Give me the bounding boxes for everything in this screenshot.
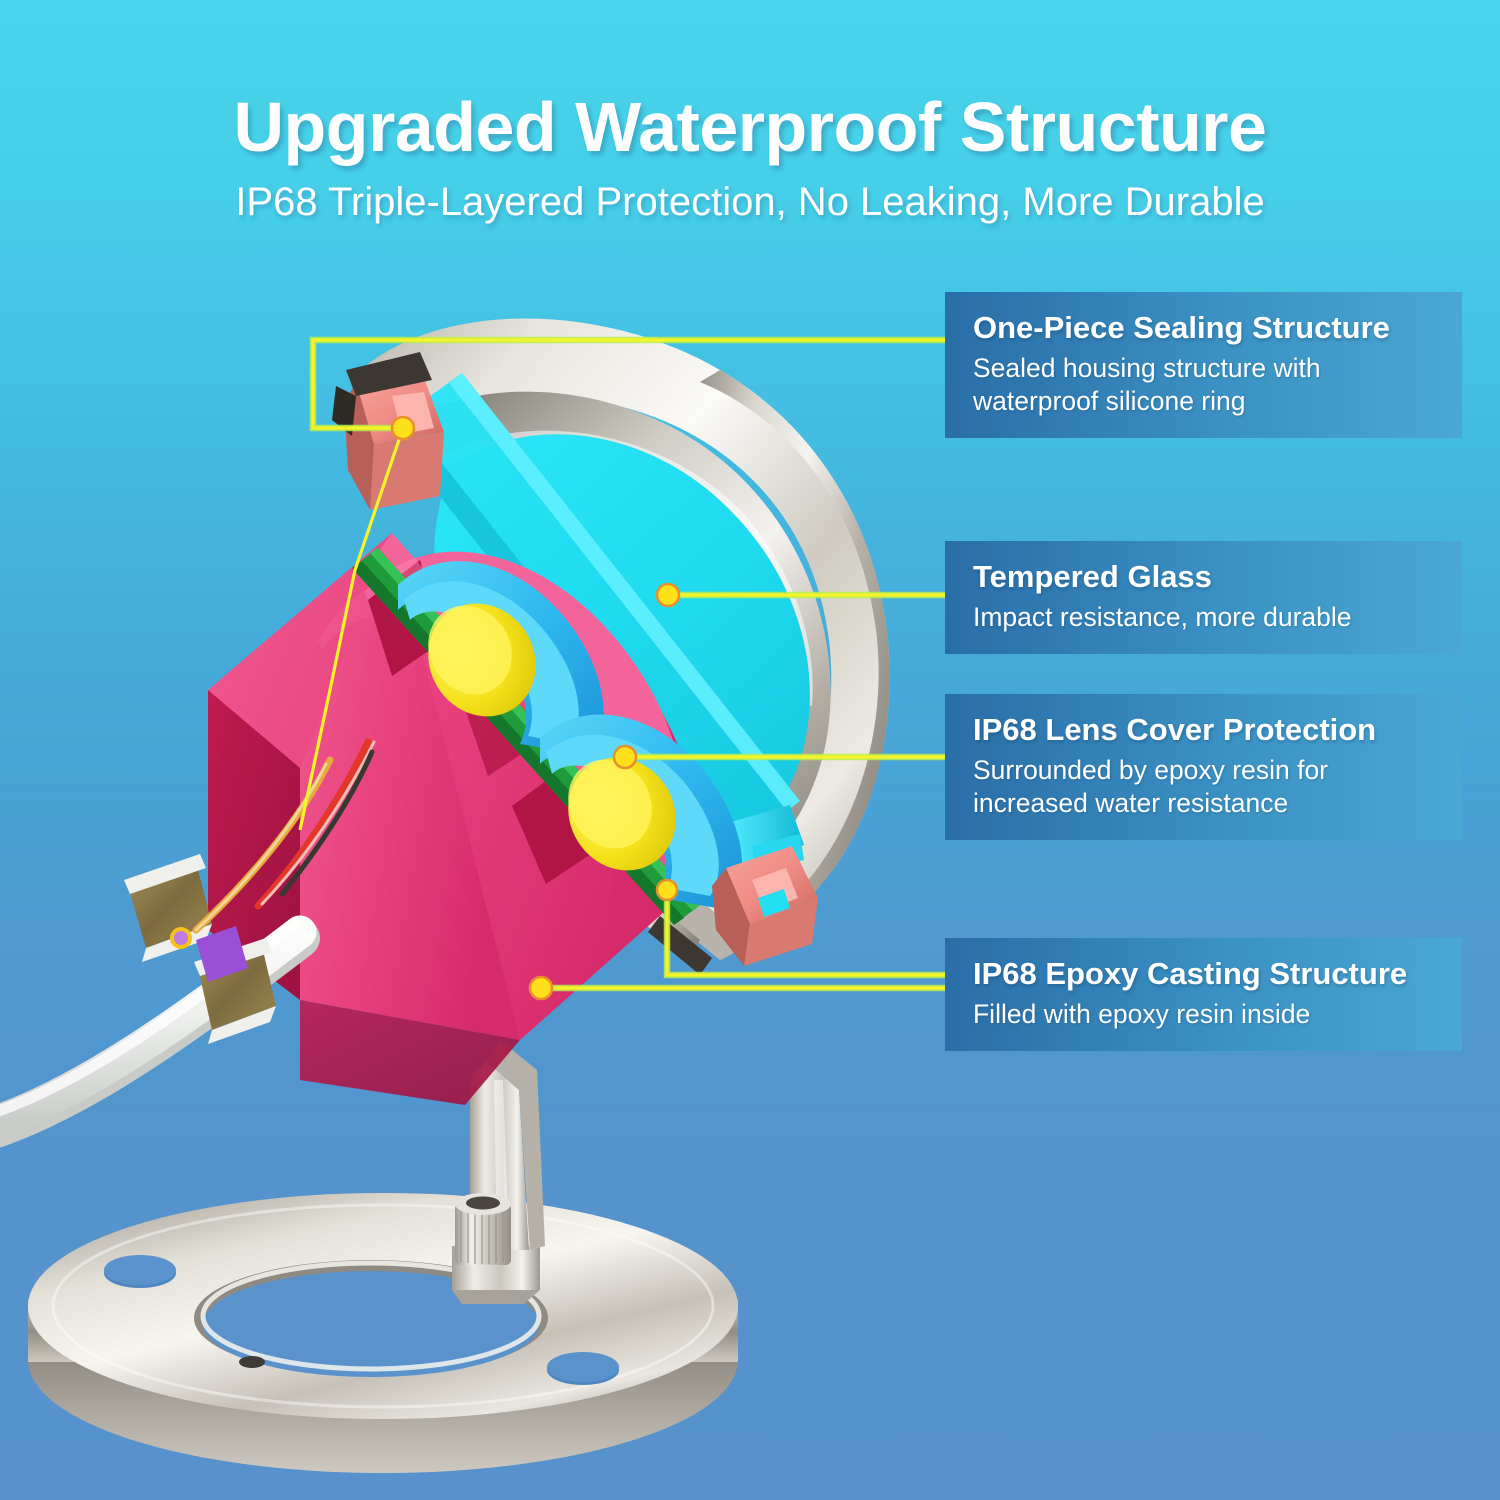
pcb-board [352,548,700,925]
marker-dot-bezel-foot [657,880,677,900]
base-mounting-hole-left [104,1258,176,1288]
callout-description: Impact resistance, more durable [973,601,1436,634]
callout-title: IP68 Lens Cover Protection [973,712,1436,747]
led-lens-cups [398,561,742,910]
leader-marker-dots [392,417,679,999]
marker-dot-lens-cover [614,746,636,768]
callout-one-piece-sealing-structure: One-Piece Sealing Structure Sealed housi… [945,292,1462,438]
power-cable [0,926,300,1130]
base-small-hole [239,1356,265,1368]
tempered-glass-disc [386,373,810,872]
led-lens-cup-upper [398,561,604,756]
callout-title: IP68 Epoxy Casting Structure [973,956,1436,991]
callout-ip68-epoxy-casting-structure: IP68 Epoxy Casting Structure Filled with… [945,938,1462,1051]
cable-gland [124,854,276,1044]
mounting-base-plate [28,1193,738,1473]
marker-dot-glass [657,584,679,606]
header: Upgraded Waterproof Structure IP68 Tripl… [0,0,1500,222]
page-subtitle: IP68 Triple-Layered Protection, No Leaki… [0,162,1500,222]
page-title: Upgraded Waterproof Structure [0,0,1500,162]
callout-title: One-Piece Sealing Structure [973,310,1436,345]
leader-lines [300,340,945,988]
marker-dot-epoxy [530,977,552,999]
knurled-adjust-knob [455,1193,511,1265]
callout-tempered-glass: Tempered Glass Impact resistance, more d… [945,541,1462,654]
chrome-housing-bezel [352,318,890,975]
grommet-marker [170,927,192,949]
silicone-seal-ring [332,352,818,966]
internal-wires [196,742,374,930]
callout-description: Surrounded by epoxy resin for increased … [973,754,1436,820]
callout-title: Tempered Glass [973,559,1436,594]
callout-description: Filled with epoxy resin inside [973,998,1436,1031]
epoxy-resin-body [208,533,702,1105]
led-lens-cup-lower [540,714,742,910]
stand-bracket [452,1040,545,1304]
base-mounting-hole-right [547,1355,619,1385]
callout-description: Sealed housing structure with waterproof… [973,352,1436,418]
marker-dot-sealing [392,417,414,439]
callout-ip68-lens-cover-protection: IP68 Lens Cover Protection Surrounded by… [945,694,1462,840]
